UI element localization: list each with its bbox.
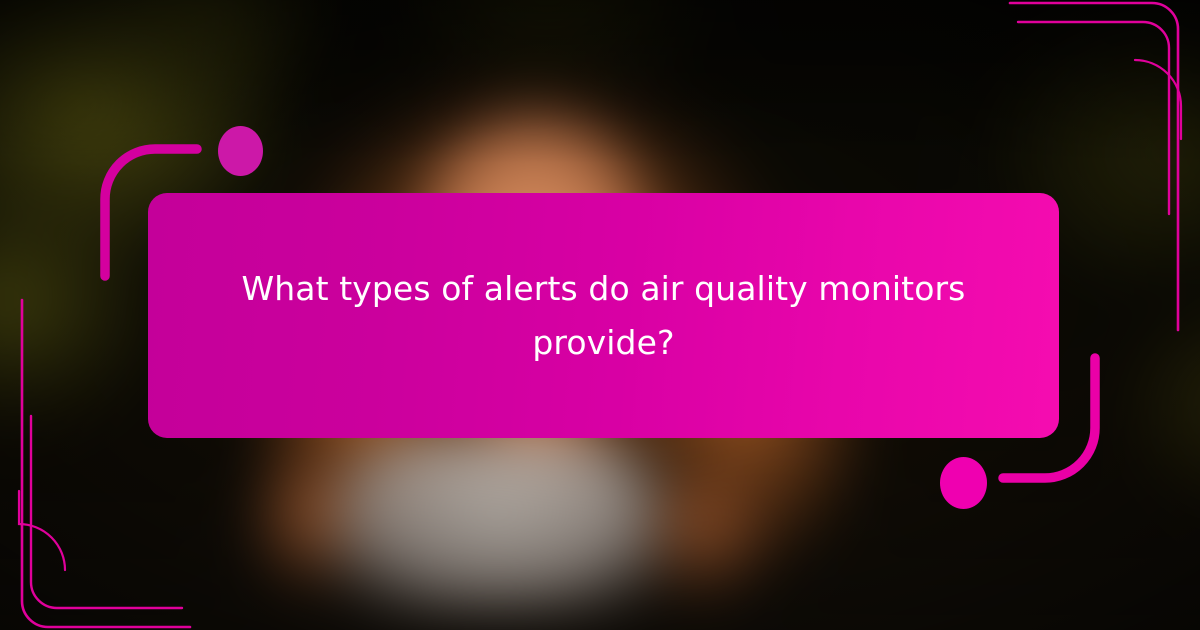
dot-top-left bbox=[218, 126, 263, 176]
question-card-stage: What types of alerts do air quality moni… bbox=[0, 0, 1200, 630]
question-text: What types of alerts do air quality moni… bbox=[222, 262, 985, 369]
person-arm-right bbox=[640, 470, 790, 620]
dot-bottom-right bbox=[940, 457, 987, 509]
person-garment bbox=[332, 435, 662, 615]
question-card: What types of alerts do air quality moni… bbox=[148, 193, 1059, 438]
